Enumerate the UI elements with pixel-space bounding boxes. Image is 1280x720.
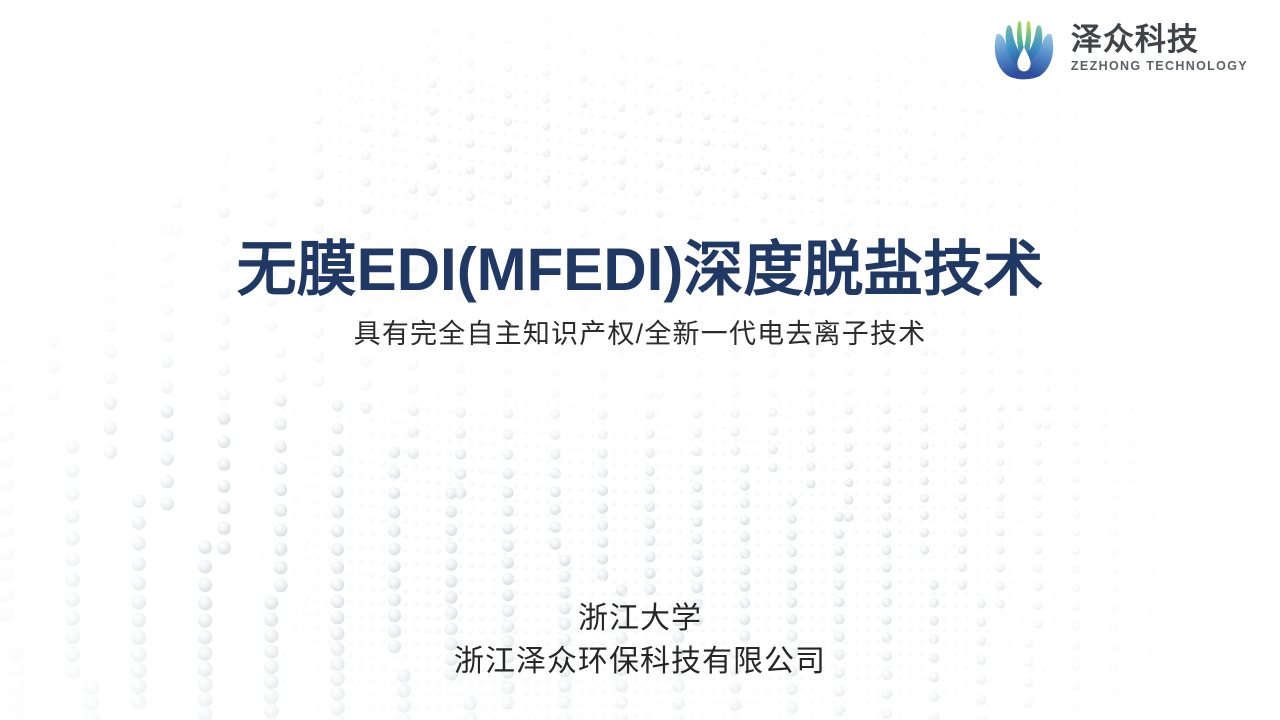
slide-subtitle: 具有完全自主知识产权/全新一代电去离子技术 (0, 317, 1280, 352)
slide-title: 无膜EDI(MFEDI)深度脱盐技术 (0, 236, 1280, 303)
title-slide: 泽众科技 ZEZHONG TECHNOLOGY 无膜EDI(MFEDI)深度脱盐… (0, 0, 1280, 720)
title-block: 无膜EDI(MFEDI)深度脱盐技术 具有完全自主知识产权/全新一代电去离子技术 (0, 236, 1280, 352)
lotus-water-drop-icon (991, 18, 1057, 80)
affiliation-line-university: 浙江大学 (0, 598, 1280, 641)
affiliation-block: 浙江大学 浙江泽众环保科技有限公司 (0, 598, 1280, 683)
affiliation-line-company: 浙江泽众环保科技有限公司 (0, 641, 1280, 684)
logo-company-name-cn: 泽众科技 (1071, 24, 1248, 57)
logo-wordmark: 泽众科技 ZEZHONG TECHNOLOGY (1071, 24, 1248, 75)
logo-company-name-en: ZEZHONG TECHNOLOGY (1071, 59, 1248, 74)
company-logo: 泽众科技 ZEZHONG TECHNOLOGY (991, 18, 1248, 80)
